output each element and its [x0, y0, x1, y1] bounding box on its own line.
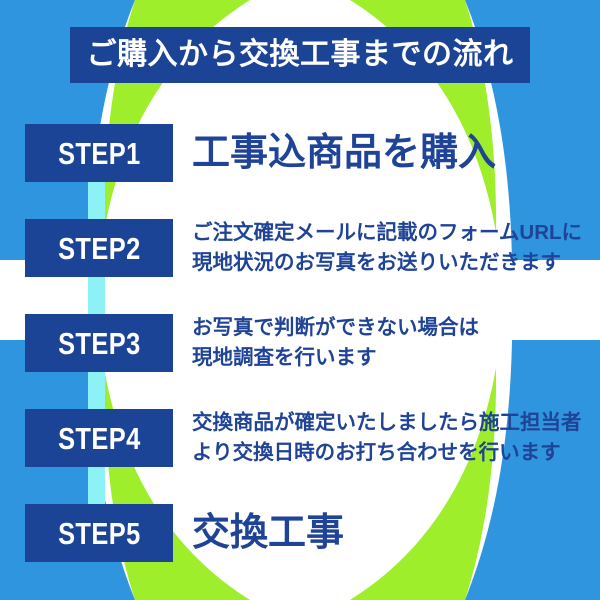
step-row: STEP1工事込商品を購入: [0, 124, 600, 182]
page-title-banner: ご購入から交換工事までの流れ: [70, 27, 530, 83]
step-badge-label: STEP4: [58, 423, 141, 454]
step-badge-2[interactable]: STEP2: [25, 219, 173, 277]
step-row: STEP2ご注文確定メールに記載のフォームURLに現地状況のお写真をお送りいただ…: [0, 219, 600, 277]
step-description-line: 現地状況のお写真をお送りいただきます: [192, 248, 592, 278]
step-badge-label: STEP3: [58, 328, 141, 359]
step-description-line: 現地調査を行います: [192, 343, 592, 373]
step-description-3: お写真で判断ができない場合は現地調査を行います: [192, 313, 592, 373]
step-description-4: 交換商品が確定いたしましたら施工担当者より交換日時のお打ち合わせを行います: [192, 408, 592, 468]
step-description-line: お写真で判断ができない場合は: [192, 313, 592, 343]
step-badge-3[interactable]: STEP3: [25, 314, 173, 372]
step-badge-4[interactable]: STEP4: [25, 409, 173, 467]
step-description-line: 交換工事: [192, 504, 592, 562]
step-badge-label: STEP5: [58, 518, 141, 549]
step-connector-bar: [88, 182, 105, 219]
infographic-page: ご購入から交換工事までの流れ STEP1工事込商品を購入STEP2ご注文確定メー…: [0, 0, 600, 600]
step-badge-1[interactable]: STEP1: [25, 124, 173, 182]
step-row: STEP5交換工事: [0, 504, 600, 562]
step-description-2: ご注文確定メールに記載のフォームURLに現地状況のお写真をお送りいただきます: [192, 218, 592, 278]
step-badge-label: STEP2: [58, 233, 141, 264]
step-description-line: 交換商品が確定いたしましたら施工担当者: [192, 408, 592, 438]
step-row: STEP3お写真で判断ができない場合は現地調査を行います: [0, 314, 600, 372]
step-badge-5[interactable]: STEP5: [25, 504, 173, 562]
steps-list: STEP1工事込商品を購入STEP2ご注文確定メールに記載のフォームURLに現地…: [0, 0, 600, 600]
page-title: ご購入から交換工事までの流れ: [87, 40, 514, 70]
step-connector-bar: [88, 277, 105, 314]
step-connector-bar: [88, 372, 105, 409]
step-description-1: 工事込商品を購入: [192, 124, 592, 182]
step-connector-bar: [88, 467, 105, 504]
step-description-line: 工事込商品を購入: [192, 124, 592, 182]
step-description-line: ご注文確定メールに記載のフォームURLに: [192, 218, 592, 248]
step-description-line: より交換日時のお打ち合わせを行います: [192, 438, 592, 468]
step-description-5: 交換工事: [192, 504, 592, 562]
step-row: STEP4交換商品が確定いたしましたら施工担当者より交換日時のお打ち合わせを行い…: [0, 409, 600, 467]
step-badge-label: STEP1: [58, 138, 141, 169]
